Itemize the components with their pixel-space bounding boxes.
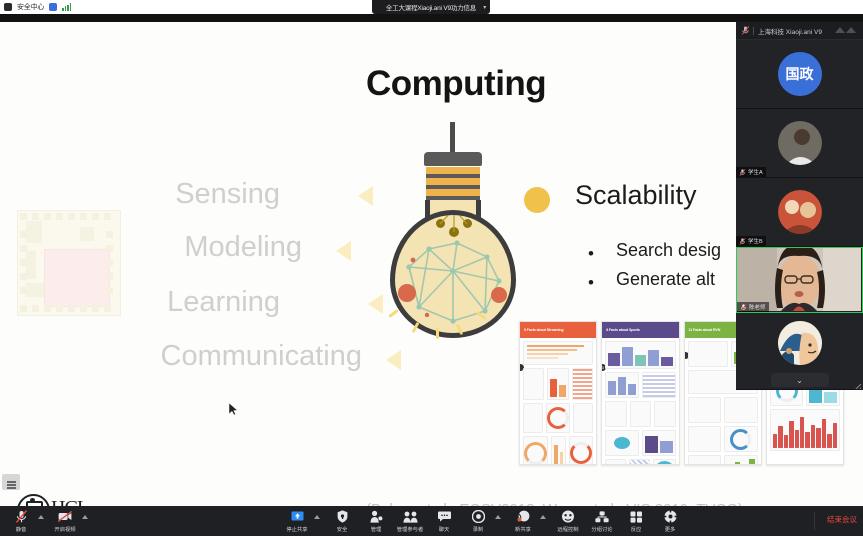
chevron-down-icon[interactable]: ▾ [483,4,486,11]
circuit-board-image [17,210,121,316]
breakout-rooms-icon [595,510,609,523]
window-title-tab[interactable]: 全工大课程Xiaoji.ani V9功力信息 ▾ [372,0,490,14]
shield-icon [4,3,12,11]
end-meeting-button[interactable]: 结束会议 [827,514,857,525]
toolbar-label: 分组讨论 [591,525,612,533]
collapse-panel-button[interactable]: ⌄ [771,373,829,387]
security-button[interactable]: 安全 [325,510,359,533]
blue-badge-icon [49,3,57,11]
more-icon [664,510,677,523]
panel-header: 上海科技 Xiaoji.ani V9 [736,22,863,40]
video-muted-icon [58,510,72,523]
window-title-text: 全工大课程Xiaoji.ani V9功力信息 [386,2,476,12]
bullet-text-2: Generate alt [616,269,715,290]
record-button[interactable]: 录制 [461,510,495,533]
thumbnail-title: 11 Facts about RVN [689,328,721,332]
shared-slide: Computing Sensing Modeling [0,22,863,506]
participants-button[interactable]: 管理参与者 [393,510,427,533]
avatar [778,321,822,365]
record-icon [472,510,485,523]
toolbar-label: 远程控制 [557,525,578,533]
toolbar-label: 更多 [665,525,676,533]
thumbnail-item[interactable]: 8 Facts about Sports 3 [601,321,679,465]
photo-avatar-icon [778,190,822,234]
chevron-up-icon-video[interactable] [82,515,88,519]
thumbnail-title: 8 Facts about Sports [606,328,640,332]
word-modeling: Modeling [184,231,302,264]
participant-tile[interactable]: ⌄ [736,313,863,390]
chevron-up-icon-audio[interactable] [38,515,44,519]
mic-muted-icon [739,169,746,176]
remote-control-icon [561,510,575,523]
institution-logo: HCI [15,492,115,506]
avatar: 国政 [778,52,822,96]
reactions-icon [630,510,643,523]
avatar [778,121,822,165]
toolbar-label: 静音 [16,525,27,533]
start-video-button[interactable]: 开启视频 [48,510,82,533]
thumbnail-title: 9 Facts about Streaming [524,328,563,332]
os-app-label: 安全中心 [17,2,44,12]
arrow-left-icon-2 [336,241,351,261]
share-screen-icon [291,510,304,523]
reactions-button[interactable]: 反应 [619,510,653,533]
thumbnail-item[interactable]: 9 Facts about Streaming [519,321,597,465]
word-communicating: Communicating [161,340,362,373]
new-share-button[interactable]: 新共享 [506,510,540,533]
participant-tile[interactable]: 学生B [736,178,863,247]
bulb-cord [450,122,455,154]
signal-icon [62,3,71,11]
notes-panel-button[interactable] [2,474,20,490]
arrow-left-icon-1 [358,186,373,206]
remote-control-button[interactable]: 远程控制 [551,510,585,533]
chevron-up-icon-share[interactable] [314,515,320,519]
bullet-text-1: Search desig [616,240,721,261]
bullet-marker-2: • [588,273,594,293]
participant-name: 学生A [748,168,763,176]
stop-share-button[interactable]: 停止共享 [280,510,314,533]
toolbar-label: 聊天 [439,525,450,533]
chat-icon [438,510,451,523]
panel-controls-icon[interactable] [835,26,857,35]
participants-icon [403,510,418,523]
bullet-marker-1: • [588,244,594,264]
toolbar-label: 录制 [473,525,484,533]
section-heading: Scalability [575,180,697,211]
word-sensing: Sensing [175,178,280,211]
divider [753,27,754,35]
mic-muted-icon [740,304,747,311]
toolbar-label: 开启视频 [54,525,75,533]
panel-header-name: 上海科技 Xiaoji.ani V9 [758,26,822,36]
bullet-dot-icon [524,187,550,213]
window-chrome [0,14,863,22]
chat-button[interactable]: 聊天 [427,510,461,533]
shield-icon [337,510,348,523]
photo-avatar-icon [778,121,822,165]
page-title: Computing [366,64,546,104]
chevron-up-icon-newshare[interactable] [540,515,546,519]
toolbar-label: 反应 [631,525,642,533]
participant-name: 陈老师 [749,303,766,311]
bulb-glass [390,210,516,338]
word-learning: Learning [167,286,280,319]
toolbar-label: 停止共享 [286,525,307,533]
mouse-cursor [229,403,238,415]
mute-audio-button[interactable]: 静音 [4,510,38,533]
participant-name: 学生B [748,237,763,245]
avatar-initials: 国政 [786,64,814,84]
more-button[interactable]: 更多 [653,510,687,533]
participant-tile-active-speaker[interactable]: 陈老师 [736,247,863,313]
mic-muted-icon [742,26,749,35]
meeting-toolbar: 静音 开启视频 停止共享 [0,506,863,536]
toolbar-label: 管理参与者 [397,525,424,533]
screen: 安全中心 全工大课程Xiaoji.ani V9功力信息 ▾ Computing [0,0,863,536]
participant-tile[interactable]: 国政 [736,40,863,109]
bulb-cap [424,152,482,166]
resize-handle[interactable] [853,379,862,388]
chevron-down-icon: ⌄ [796,376,803,385]
mic-muted-icon [739,238,746,245]
tile-name-badge: 学生B [736,236,766,246]
chevron-up-icon-record[interactable] [495,515,501,519]
tile-name-badge: 学生A [736,167,766,177]
breakout-rooms-button[interactable]: 分组讨论 [585,510,619,533]
toolbar-label: 安全 [337,525,348,533]
tile-name-badge: 陈老师 [737,302,769,312]
participant-tile[interactable]: 学生A [736,109,863,178]
mic-muted-icon [16,510,27,523]
toolbar-label: 管理 [371,525,382,533]
toolbar-left-group: 静音 开启视频 [4,510,88,533]
logo-text: HCI [51,497,82,506]
cartoon-avatar-icon [778,321,822,365]
manage-button[interactable]: 管理 [359,510,393,533]
os-tray: 安全中心 [4,0,71,14]
toolbar-label: 新共享 [515,525,531,533]
toolbar-center-group: 停止共享 安全 管理 管理参与者 [280,510,687,533]
university-seal-icon [17,494,50,506]
person-manage-icon [370,510,383,523]
filament-wires [395,215,516,255]
avatar [778,190,822,234]
lightbulb-graphic [378,122,528,317]
arrow-left-icon-4 [386,350,401,370]
zoom-participant-panel: 上海科技 Xiaoji.ani V9 国政 [736,22,863,382]
toolbar-divider [814,512,815,530]
new-share-icon [517,510,530,523]
